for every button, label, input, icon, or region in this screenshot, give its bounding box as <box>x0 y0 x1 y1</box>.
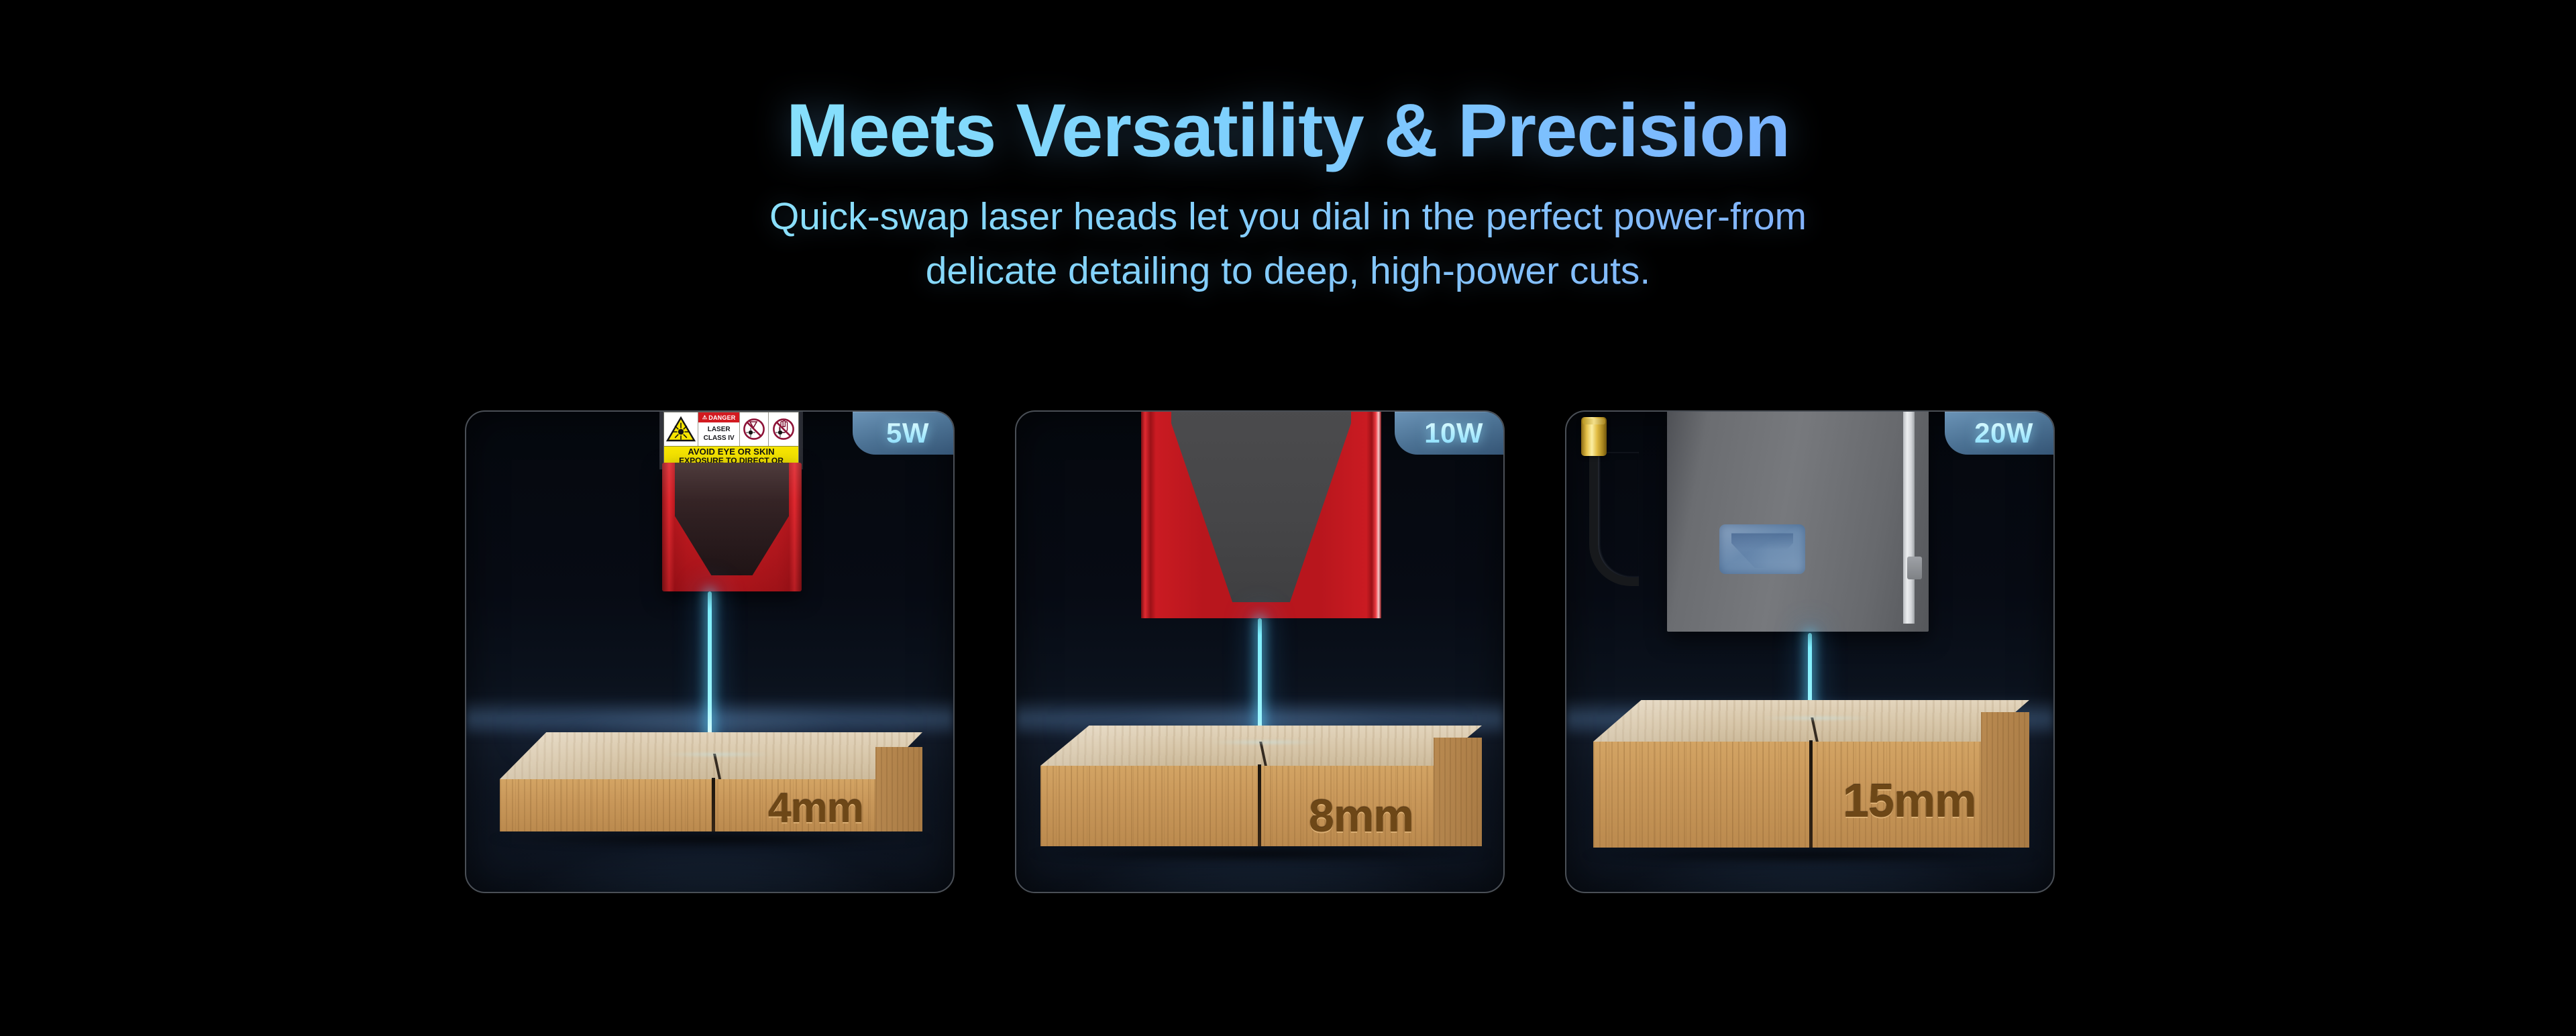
brass-sma-connector-icon <box>1581 417 1607 456</box>
page-title: Meets Versatility & Precision <box>0 89 2576 172</box>
cut-depth-label: 15mm <box>1843 774 1976 827</box>
page-subtitle: Quick-swap laser heads let you dial in t… <box>0 190 2576 298</box>
red-laser-shroud <box>662 463 802 591</box>
wood-shadow <box>1580 846 2043 864</box>
wood-shadow <box>1027 845 1495 862</box>
wood-kerf-front <box>1258 764 1261 846</box>
wood-kerf-front <box>712 778 715 831</box>
power-badge-label: 5W <box>886 417 929 449</box>
wood-kerf-glow <box>661 752 775 756</box>
wood-shadow <box>487 830 935 848</box>
power-card-5w[interactable]: ⚠ DANGER LASER CLASS IV <box>465 410 955 893</box>
power-cable <box>1589 452 1639 586</box>
wood-side-face <box>1981 712 2029 848</box>
window-inner-reflection <box>1731 533 1793 568</box>
cut-depth-label: 4mm <box>768 785 863 832</box>
wood-block: 8mm <box>1040 726 1482 853</box>
laser-radiation-hazard-icon <box>664 412 698 446</box>
red-laser-shroud-closeup <box>1141 410 1381 618</box>
laser-viewing-window <box>1719 524 1805 574</box>
warning-label-band: AVOID EYE OR SKIN EXPOSURE TO DIRECT OR <box>664 446 798 463</box>
no-looking-into-beam-icon <box>740 412 769 446</box>
warning-band-line-1: AVOID EYE OR SKIN <box>688 447 774 457</box>
wood-side-face <box>1434 738 1482 846</box>
subtitle-line-1: Quick-swap laser heads let you dial in t… <box>0 190 2576 244</box>
laser-word: LASER <box>708 426 731 435</box>
power-badge-20w: 20W <box>1945 412 2053 455</box>
danger-word: DANGER <box>708 414 735 421</box>
wood-block: 4mm <box>500 732 922 838</box>
laser-class-text: LASER CLASS IV <box>698 422 739 446</box>
laser-warning-label: ⚠ DANGER LASER CLASS IV <box>663 412 799 464</box>
no-hand-exposure-icon <box>769 412 798 446</box>
power-badge-label: 10W <box>1424 417 1483 449</box>
class-word: CLASS IV <box>704 435 735 443</box>
laser-beam <box>708 591 712 754</box>
power-card-row: ⚠ DANGER LASER CLASS IV <box>465 410 2056 893</box>
shroud-gloss-overlay <box>662 463 802 591</box>
wood-side-face <box>875 747 922 831</box>
silver-laser-module <box>1667 410 1929 632</box>
power-badge-10w: 10W <box>1395 412 1503 455</box>
promo-page: Meets Versatility & Precision Quick-swap… <box>0 0 2576 1036</box>
power-card-10w[interactable]: 8mm 10W <box>1015 410 1505 893</box>
danger-banner: ⚠ DANGER <box>698 412 739 422</box>
power-badge-label: 20W <box>1974 417 2033 449</box>
wood-block: 15mm <box>1593 700 2029 854</box>
heading-block: Meets Versatility & Precision Quick-swap… <box>0 0 2576 298</box>
wood-kerf-glow <box>1207 740 1324 744</box>
mounting-rail <box>1903 410 1915 624</box>
wood-kerf-glow <box>1758 716 1876 720</box>
cut-depth-label: 8mm <box>1309 790 1413 842</box>
subtitle-line-2: delicate detailing to deep, high-power c… <box>0 244 2576 298</box>
wood-kerf-front <box>1809 740 1813 848</box>
power-badge-5w: 5W <box>853 412 953 455</box>
warning-label-top-row: ⚠ DANGER LASER CLASS IV <box>664 412 798 446</box>
rail-clamp <box>1907 557 1922 579</box>
power-card-20w[interactable]: 15mm 20W <box>1565 410 2055 893</box>
warning-label-text-cell: ⚠ DANGER LASER CLASS IV <box>698 412 739 446</box>
warning-triangle-glyph: ⚠ <box>702 414 707 420</box>
